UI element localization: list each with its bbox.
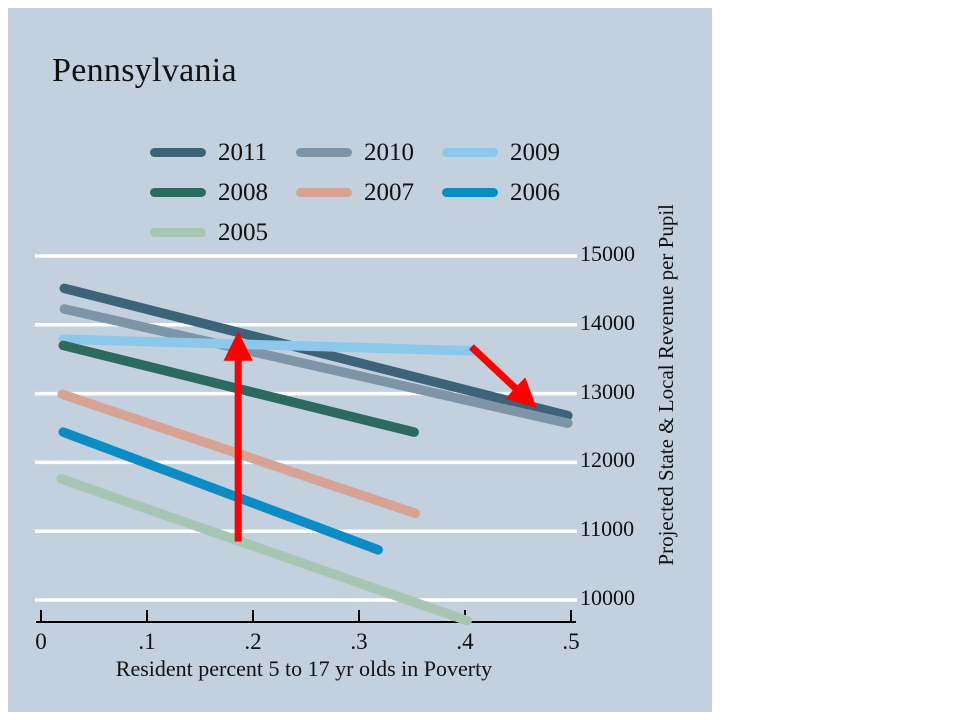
x-tick-label-5: .5	[562, 629, 579, 655]
chart-plot-area: 150001400013000120001100010000 0.1.2.3.4…	[8, 8, 712, 712]
y-axis-title: Projected State & Local Revenue per Pupi…	[654, 204, 679, 566]
chart-gridlines	[35, 256, 577, 600]
x-tick-label-2: .2	[244, 629, 261, 655]
chart-axis-lines	[36, 610, 576, 622]
y-tick-label-15000: 15000	[580, 241, 635, 267]
x-tick-label-3: .3	[350, 629, 367, 655]
y-tick-label-13000: 13000	[580, 379, 635, 405]
y-tick-label-12000: 12000	[580, 447, 635, 473]
x-tick-label-0: 0	[35, 629, 47, 655]
x-tick-label-1: .1	[138, 629, 155, 655]
series-line-2009	[63, 339, 475, 351]
chart-series-lines	[61, 288, 568, 620]
slide-panel: Pennsylvania 201120102009200820072006200…	[8, 8, 712, 712]
x-axis-title: Resident percent 5 to 17 yr olds in Pove…	[8, 656, 600, 682]
y-tick-label-11000: 11000	[580, 516, 634, 542]
x-tick-label-4: .4	[456, 629, 473, 655]
y-tick-label-10000: 10000	[580, 585, 635, 611]
series-line-2011	[64, 288, 568, 415]
y-tick-label-14000: 14000	[580, 310, 635, 336]
